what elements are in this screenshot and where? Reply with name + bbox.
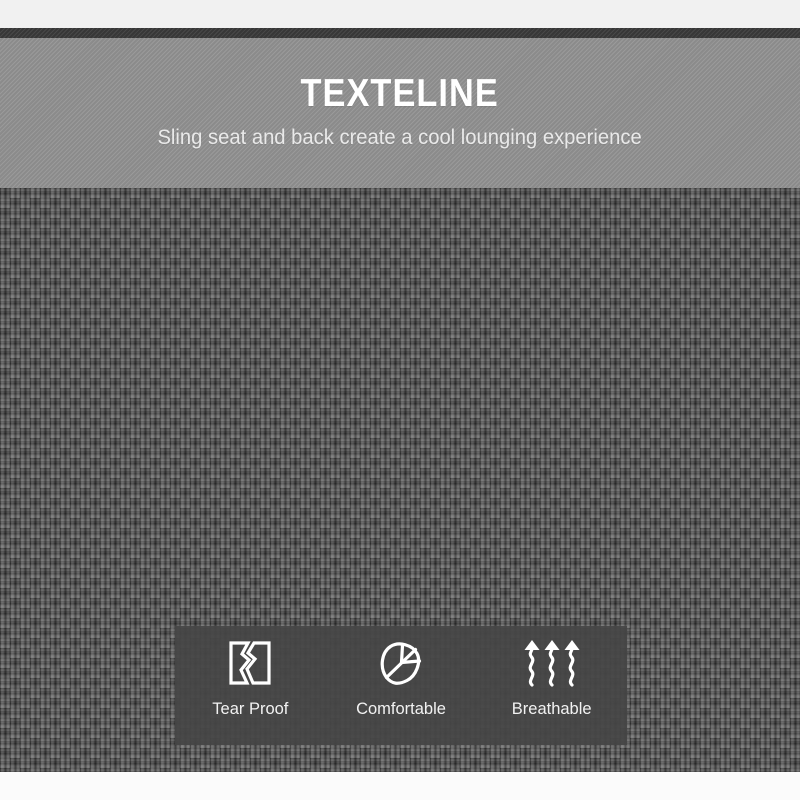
product-feature-banner: TEXTELINE Sling seat and back create a c… [0, 0, 800, 800]
header-divider-rule [0, 28, 800, 38]
page-title: TEXTELINE [301, 74, 499, 113]
feature-label-breathable: Breathable [512, 701, 592, 718]
feature-label-tear-proof: Tear Proof [212, 701, 288, 718]
torn-fabric-icon [228, 639, 272, 687]
bottom-white-margin [0, 772, 800, 800]
page-subtitle: Sling seat and back create a cool loungi… [158, 127, 642, 149]
feature-item-tear-proof: Tear Proof [175, 626, 326, 745]
headline-banner: TEXTELINE Sling seat and back create a c… [0, 38, 800, 188]
feature-item-breathable: Breathable [476, 626, 627, 745]
feature-label-comfortable: Comfortable [356, 701, 446, 718]
feature-highlights-panel: Tear Proof Comfortable [175, 626, 627, 745]
feature-item-comfortable: Comfortable [326, 626, 477, 745]
top-white-margin [0, 0, 800, 28]
rising-air-waves-icon [523, 639, 581, 687]
leaf-icon [378, 639, 424, 687]
